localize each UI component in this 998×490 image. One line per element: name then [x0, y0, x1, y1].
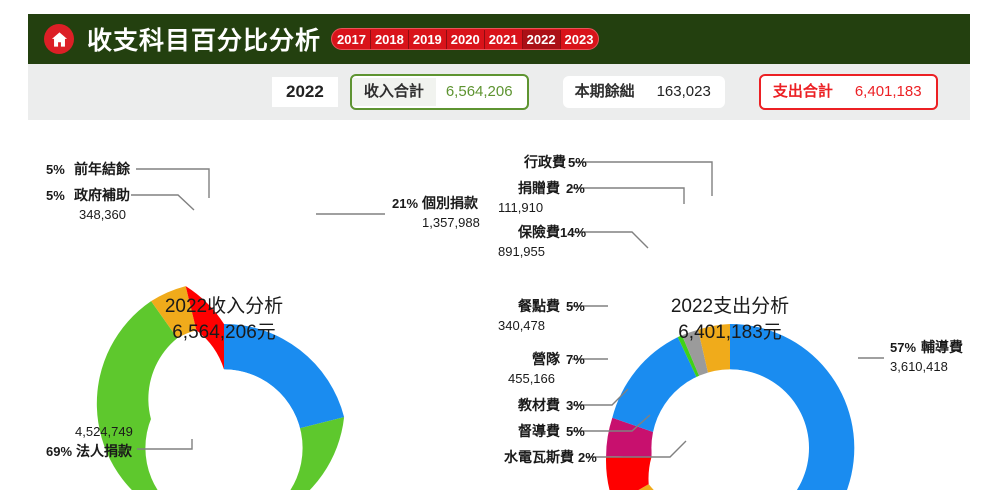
year-pill-2018[interactable]: 2018 — [371, 30, 409, 49]
income-label-personal-value: 1,357,988 — [422, 215, 480, 230]
year-pill-2019[interactable]: 2019 — [409, 30, 447, 49]
expense-total-label: 支出合計 — [761, 78, 845, 106]
income-label-corporate-value: 4,524,749 — [75, 424, 133, 439]
expense-label-insurance-value: 891,955 — [498, 244, 545, 259]
expense-label-donation-value: 111,910 — [498, 200, 543, 215]
income-donut: 2022收入分析 6,564,206元 — [97, 286, 344, 490]
expense-label-counseling-value: 3,610,418 — [890, 359, 948, 374]
leader-prev-balance — [136, 169, 209, 198]
expense-label-donation-pct: 2% — [566, 181, 585, 196]
income-label-personal-name: 個別捐款 — [421, 195, 479, 211]
expense-label-camp-pct: 7% — [566, 352, 585, 367]
expense-label-meal-pct: 5% — [566, 299, 585, 314]
balance-chip: 本期餘絀 163,023 — [563, 76, 725, 108]
expense-label-counseling-pct: 57% — [890, 340, 916, 355]
leader-gov-subsidy — [131, 195, 194, 210]
expense-label-utilities-pct: 2% — [578, 450, 597, 465]
income-total-value: 6,564,206 — [436, 78, 527, 106]
income-total-chip: 收入合計 6,564,206 — [350, 74, 529, 110]
expense-label-utilities-name: 水電瓦斯費 — [504, 449, 574, 465]
charts-area: 2022收入分析 6,564,206元 5% 前年結餘 5% 政府補助 348,… — [0, 126, 998, 490]
year-selector[interactable]: 2017 2018 2019 2020 2021 2022 2023 — [331, 28, 599, 50]
income-label-corporate-name: 法人捐款 — [76, 443, 133, 459]
expense-label-admin-name: 行政費 — [523, 154, 566, 170]
year-pill-2017[interactable]: 2017 — [333, 30, 371, 49]
page-title: 收支科目百分比分析 — [87, 21, 321, 57]
balance-value: 163,023 — [647, 78, 725, 106]
summary-strip: 2022 收入合計 6,564,206 本期餘絀 163,023 支出合計 6,… — [28, 64, 970, 120]
income-total-label: 收入合計 — [352, 78, 436, 106]
income-center-line2: 6,564,206元 — [172, 322, 276, 343]
income-label-gov-pct: 5% — [46, 188, 65, 203]
expense-total-value: 6,401,183 — [845, 78, 936, 106]
income-label-gov-value: 348,360 — [79, 207, 126, 222]
expense-label-donation-name: 捐贈費 — [518, 180, 560, 196]
expense-label-material-pct: 3% — [566, 398, 585, 413]
income-label-personal-pct: 21% — [392, 196, 418, 211]
report-page: 收支科目百分比分析 2017 2018 2019 2020 2021 2022 … — [0, 0, 998, 490]
leader-donation — [572, 188, 684, 204]
income-label-corporate-pct: 69% — [46, 444, 72, 459]
expense-label-insurance-name: 保險費 — [517, 224, 560, 240]
income-label-prev-name: 前年結餘 — [74, 161, 131, 177]
expense-total-chip: 支出合計 6,401,183 — [759, 74, 938, 110]
expense-label-admin-pct: 5% — [568, 155, 587, 170]
summary-year: 2022 — [272, 77, 338, 107]
expense-center-line2: 6,401,183元 — [678, 322, 782, 343]
expense-slice-camp[interactable] — [606, 456, 651, 490]
expense-label-supervision-name: 督導費 — [518, 423, 560, 439]
expense-label-meal-value: 340,478 — [498, 318, 545, 333]
balance-label: 本期餘絀 — [563, 78, 647, 106]
expense-label-supervision-pct: 5% — [566, 424, 585, 439]
expense-label-camp-value: 455,166 — [508, 371, 555, 386]
year-pill-2020[interactable]: 2020 — [447, 30, 485, 49]
expense-label-material-name: 教材費 — [518, 397, 560, 413]
expense-donut: 2022支出分析 6,401,183元 — [606, 295, 854, 490]
income-label-prev-pct: 5% — [46, 162, 65, 177]
year-pill-2021[interactable]: 2021 — [485, 30, 523, 49]
year-pill-2022[interactable]: 2022 — [523, 30, 561, 49]
expense-center-line1: 2022支出分析 — [671, 295, 789, 317]
expense-label-insurance-pct: 14% — [560, 225, 586, 240]
expense-label-counseling-name: 輔導費 — [921, 339, 963, 355]
page-header: 收支科目百分比分析 2017 2018 2019 2020 2021 2022 … — [28, 14, 970, 64]
income-center-line1: 2022收入分析 — [165, 295, 283, 317]
leader-admin — [572, 162, 712, 196]
expense-label-camp-name: 營隊 — [532, 351, 561, 367]
home-icon[interactable] — [44, 24, 74, 54]
year-pill-2023[interactable]: 2023 — [561, 30, 598, 49]
expense-label-meal-name: 餐點費 — [517, 298, 560, 314]
income-label-gov-name: 政府補助 — [74, 187, 130, 203]
